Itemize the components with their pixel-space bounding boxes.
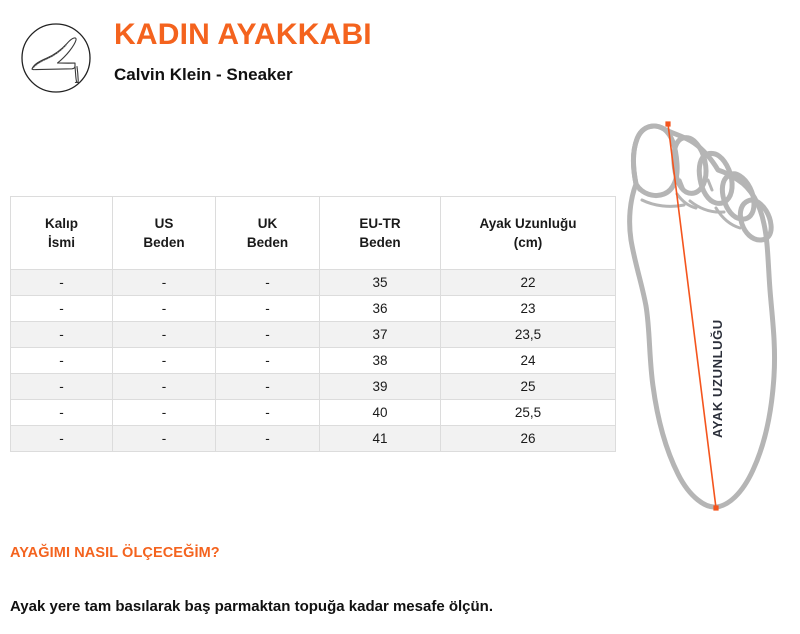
cell-ayak-uzunlugu: 23,5 bbox=[441, 322, 616, 348]
cell-uk-beden: - bbox=[216, 270, 320, 296]
cell-uk-beden: - bbox=[216, 348, 320, 374]
cell-eu-tr-beden: 35 bbox=[320, 270, 441, 296]
cell-eu-tr-beden: 36 bbox=[320, 296, 441, 322]
cell-kalip-ismi: - bbox=[11, 322, 113, 348]
table-body: - - - 35 22 - - - 36 23 - - - 37 23,5 bbox=[11, 270, 616, 452]
high-heel-shoe-icon bbox=[14, 16, 98, 100]
page-title: KADIN AYAKKABI bbox=[114, 18, 372, 52]
cell-uk-beden: - bbox=[216, 426, 320, 452]
cell-eu-tr-beden: 41 bbox=[320, 426, 441, 452]
cell-us-beden: - bbox=[113, 296, 216, 322]
cell-ayak-uzunlugu: 25,5 bbox=[441, 400, 616, 426]
table-row: - - - 39 25 bbox=[11, 374, 616, 400]
measure-instructions: AYAĞIMI NASIL ÖLÇECEĞİM? Ayak yere tam b… bbox=[10, 545, 710, 615]
size-chart-table-wrapper: Kalıp İsmi US Beden UK Beden EU-TR Beden… bbox=[10, 196, 615, 452]
table-row: - - - 35 22 bbox=[11, 270, 616, 296]
column-header-us-beden: US Beden bbox=[113, 197, 216, 270]
cell-kalip-ismi: - bbox=[11, 348, 113, 374]
cell-us-beden: - bbox=[113, 322, 216, 348]
table-header-row: Kalıp İsmi US Beden UK Beden EU-TR Beden… bbox=[11, 197, 616, 270]
cell-us-beden: - bbox=[113, 348, 216, 374]
column-header-uk-beden: UK Beden bbox=[216, 197, 320, 270]
column-header-kalip-ismi: Kalıp İsmi bbox=[11, 197, 113, 270]
table-header: Kalıp İsmi US Beden UK Beden EU-TR Beden… bbox=[11, 197, 616, 270]
cell-kalip-ismi: - bbox=[11, 400, 113, 426]
foot-sole-diagram bbox=[620, 108, 795, 523]
cell-us-beden: - bbox=[113, 374, 216, 400]
table-row: - - - 36 23 bbox=[11, 296, 616, 322]
cell-ayak-uzunlugu: 23 bbox=[441, 296, 616, 322]
cell-ayak-uzunlugu: 24 bbox=[441, 348, 616, 374]
measure-instructions-text: Ayak yere tam basılarak baş parmaktan to… bbox=[10, 598, 710, 615]
cell-eu-tr-beden: 40 bbox=[320, 400, 441, 426]
table-row: - - - 37 23,5 bbox=[11, 322, 616, 348]
foot-length-label: AYAK UZUNLUĞU bbox=[708, 418, 800, 438]
cell-kalip-ismi: - bbox=[11, 296, 113, 322]
cell-kalip-ismi: - bbox=[11, 374, 113, 400]
page-subtitle: Calvin Klein - Sneaker bbox=[114, 64, 372, 86]
cell-us-beden: - bbox=[113, 400, 216, 426]
cell-eu-tr-beden: 39 bbox=[320, 374, 441, 400]
cell-eu-tr-beden: 38 bbox=[320, 348, 441, 374]
column-header-ayak-uzunlugu: Ayak Uzunluğu (cm) bbox=[441, 197, 616, 270]
size-chart-table: Kalıp İsmi US Beden UK Beden EU-TR Beden… bbox=[10, 196, 616, 452]
table-row: - - - 38 24 bbox=[11, 348, 616, 374]
cell-ayak-uzunlugu: 22 bbox=[441, 270, 616, 296]
table-row: - - - 41 26 bbox=[11, 426, 616, 452]
cell-uk-beden: - bbox=[216, 374, 320, 400]
column-header-eu-tr-beden: EU-TR Beden bbox=[320, 197, 441, 270]
measure-instructions-heading: AYAĞIMI NASIL ÖLÇECEĞİM? bbox=[10, 545, 710, 561]
cell-us-beden: - bbox=[113, 270, 216, 296]
cell-uk-beden: - bbox=[216, 322, 320, 348]
cell-kalip-ismi: - bbox=[11, 426, 113, 452]
cell-kalip-ismi: - bbox=[11, 270, 113, 296]
cell-uk-beden: - bbox=[216, 400, 320, 426]
cell-uk-beden: - bbox=[216, 296, 320, 322]
cell-ayak-uzunlugu: 26 bbox=[441, 426, 616, 452]
cell-eu-tr-beden: 37 bbox=[320, 322, 441, 348]
cell-ayak-uzunlugu: 25 bbox=[441, 374, 616, 400]
page-header: KADIN AYAKKABI Calvin Klein - Sneaker bbox=[14, 10, 574, 106]
cell-us-beden: - bbox=[113, 426, 216, 452]
title-block: KADIN AYAKKABI Calvin Klein - Sneaker bbox=[114, 18, 372, 86]
table-row: - - - 40 25,5 bbox=[11, 400, 616, 426]
